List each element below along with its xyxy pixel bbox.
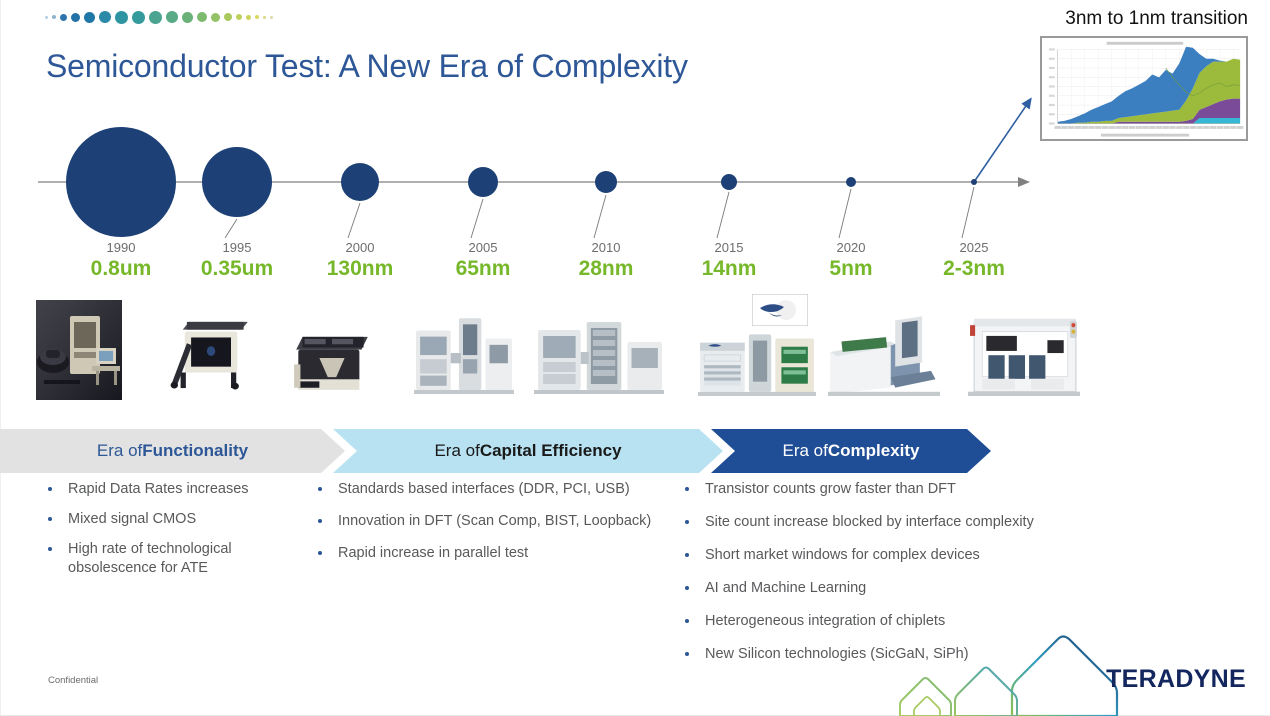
timeline-label-group-2020: 20205nm (781, 240, 921, 282)
ate-tester-2005 (414, 310, 514, 394)
confidential-label: Confidential (48, 675, 98, 686)
page-title: Semiconductor Test: A New Era of Complex… (46, 48, 688, 85)
timeline-node-size-label: 65nm (413, 256, 553, 282)
timeline-year-label: 2010 (536, 240, 676, 256)
ribbon-dot (263, 16, 266, 19)
era-label-bold-1: Functionality (142, 441, 248, 461)
ate-tester-2015-inset (752, 294, 808, 326)
inset-chart-title: 3nm to 1nm transition (1065, 8, 1248, 30)
ribbon-dot (246, 15, 251, 20)
ribbon-dot (84, 12, 95, 23)
ate-tester-2025-svg (968, 308, 1080, 396)
era-bullet-item: Innovation in DFT (Scan Comp, BIST, Loop… (308, 512, 678, 531)
timeline-year-label: 2020 (781, 240, 921, 256)
timeline-node-2000[interactable] (341, 163, 379, 201)
timeline-label-group-2025: 20252-3nm (904, 240, 1044, 282)
ate-tester-2005-svg (414, 310, 514, 394)
ate-tester-2015 (698, 318, 816, 396)
era-bullet-item: Transistor counts grow faster than DFT (675, 480, 1095, 499)
ribbon-dot (270, 16, 273, 19)
ribbon-dot (197, 12, 207, 22)
slide-canvas: Semiconductor Test: A New Era of Complex… (0, 0, 1270, 716)
timeline-node-2020[interactable] (846, 177, 856, 187)
timeline-node-2010[interactable] (595, 171, 617, 193)
era-bullet-item: Rapid Data Rates increases (38, 480, 308, 499)
timeline-label-group-2015: 201514nm (659, 240, 799, 282)
ribbon-dot (236, 14, 242, 20)
ribbon-dot (182, 12, 193, 23)
bullet-column-capital-efficiency: Standards based interfaces (DDR, PCI, US… (308, 480, 678, 576)
ribbon-dot (132, 11, 145, 24)
ribbon-dot (166, 11, 178, 23)
ribbon-dot (45, 16, 48, 19)
ribbon-dot (71, 13, 80, 22)
ate-tester-2015-inset-svg (752, 294, 808, 326)
timeline-node-size-label: 14nm (659, 256, 799, 282)
ate-tester-2020-svg (828, 310, 940, 396)
era-bullet-item: Mixed signal CMOS (38, 510, 308, 529)
timeline-year-label: 2015 (659, 240, 799, 256)
timeline-year-label: 2025 (904, 240, 1044, 256)
teradyne-logo: TERADYNE (890, 631, 1270, 716)
timeline-node-1995[interactable] (202, 147, 272, 217)
era-label-prefix-3: Era of (783, 441, 828, 461)
ate-tester-2000-svg (292, 322, 372, 392)
technology-node-timeline: 19900.8um19950.35um2000130nm200565nm2010… (0, 120, 1270, 290)
era-label-prefix-2: Era of (434, 441, 479, 461)
timeline-label-group-1995: 19950.35um (167, 240, 307, 282)
ribbon-dot (52, 15, 56, 19)
ribbon-dot (224, 13, 232, 21)
era-bullet-columns: Rapid Data Rates increasesMixed signal C… (0, 480, 1270, 650)
ribbon-dot (60, 14, 67, 21)
ribbon-dot (255, 15, 259, 19)
era-bullet-item: High rate of technological obsolescence … (38, 540, 308, 578)
timeline-node-2015[interactable] (721, 174, 737, 190)
era-chevron-complexity[interactable]: Era of Complexity (711, 429, 991, 473)
ate-tester-2000 (292, 322, 372, 392)
era-label-bold-3: Complexity (828, 441, 920, 461)
ribbon-dot (115, 11, 128, 24)
era-chevron-band: Era of Functionality Era of Capital Effi… (0, 429, 1270, 473)
timeline-label-group-2010: 201028nm (536, 240, 676, 282)
decorative-dot-ribbon (45, 8, 273, 26)
era-bullet-item: Short market windows for complex devices (675, 546, 1095, 565)
era-bullet-item: Site count increase blocked by interface… (675, 513, 1095, 532)
era-chevron-functionality[interactable]: Era of Functionality (0, 429, 345, 473)
era-bullet-item: Standards based interfaces (DDR, PCI, US… (308, 480, 678, 499)
timeline-node-size-label: 28nm (536, 256, 676, 282)
ate-tester-2020 (828, 310, 940, 396)
timeline-node-size-label: 0.35um (167, 256, 307, 282)
timeline-node-2025[interactable] (971, 179, 977, 185)
bullet-column-functionality: Rapid Data Rates increasesMixed signal C… (38, 480, 308, 589)
ate-tester-2015-svg (698, 318, 816, 396)
era-label-prefix-1: Era of (97, 441, 142, 461)
timeline-node-2005[interactable] (468, 167, 498, 197)
timeline-node-size-label: 2-3nm (904, 256, 1044, 282)
era-bullet-item: Heterogeneous integration of chiplets (675, 612, 1095, 631)
ate-tester-2010-svg (534, 312, 664, 394)
ribbon-dot (211, 13, 220, 22)
timeline-label-group-2005: 200565nm (413, 240, 553, 282)
era-label-bold-2: Capital Efficiency (480, 441, 622, 461)
ate-tester-1995 (168, 318, 252, 390)
timeline-node-size-label: 5nm (781, 256, 921, 282)
era-chevron-capital-efficiency[interactable]: Era of Capital Efficiency (333, 429, 723, 473)
ate-tester-2025 (968, 308, 1080, 396)
timeline-year-label: 2000 (290, 240, 430, 256)
ate-tester-1995-svg (168, 318, 252, 390)
timeline-label-group-2000: 2000130nm (290, 240, 430, 282)
timeline-node-1990[interactable] (66, 127, 176, 237)
ribbon-dot (99, 11, 111, 23)
ate-tester-2010 (534, 312, 664, 394)
timeline-year-label: 1995 (167, 240, 307, 256)
ate-tester-1990 (36, 300, 122, 400)
timeline-node-size-label: 130nm (290, 256, 430, 282)
era-bullet-item: AI and Machine Learning (675, 579, 1095, 598)
ate-tester-1990-svg (36, 300, 122, 400)
timeline-year-label: 2005 (413, 240, 553, 256)
ribbon-dot (149, 11, 162, 24)
teradyne-wordmark: TERADYNE (1106, 665, 1246, 694)
era-bullet-item: Rapid increase in parallel test (308, 544, 678, 563)
equipment-photo-row (0, 296, 1270, 411)
